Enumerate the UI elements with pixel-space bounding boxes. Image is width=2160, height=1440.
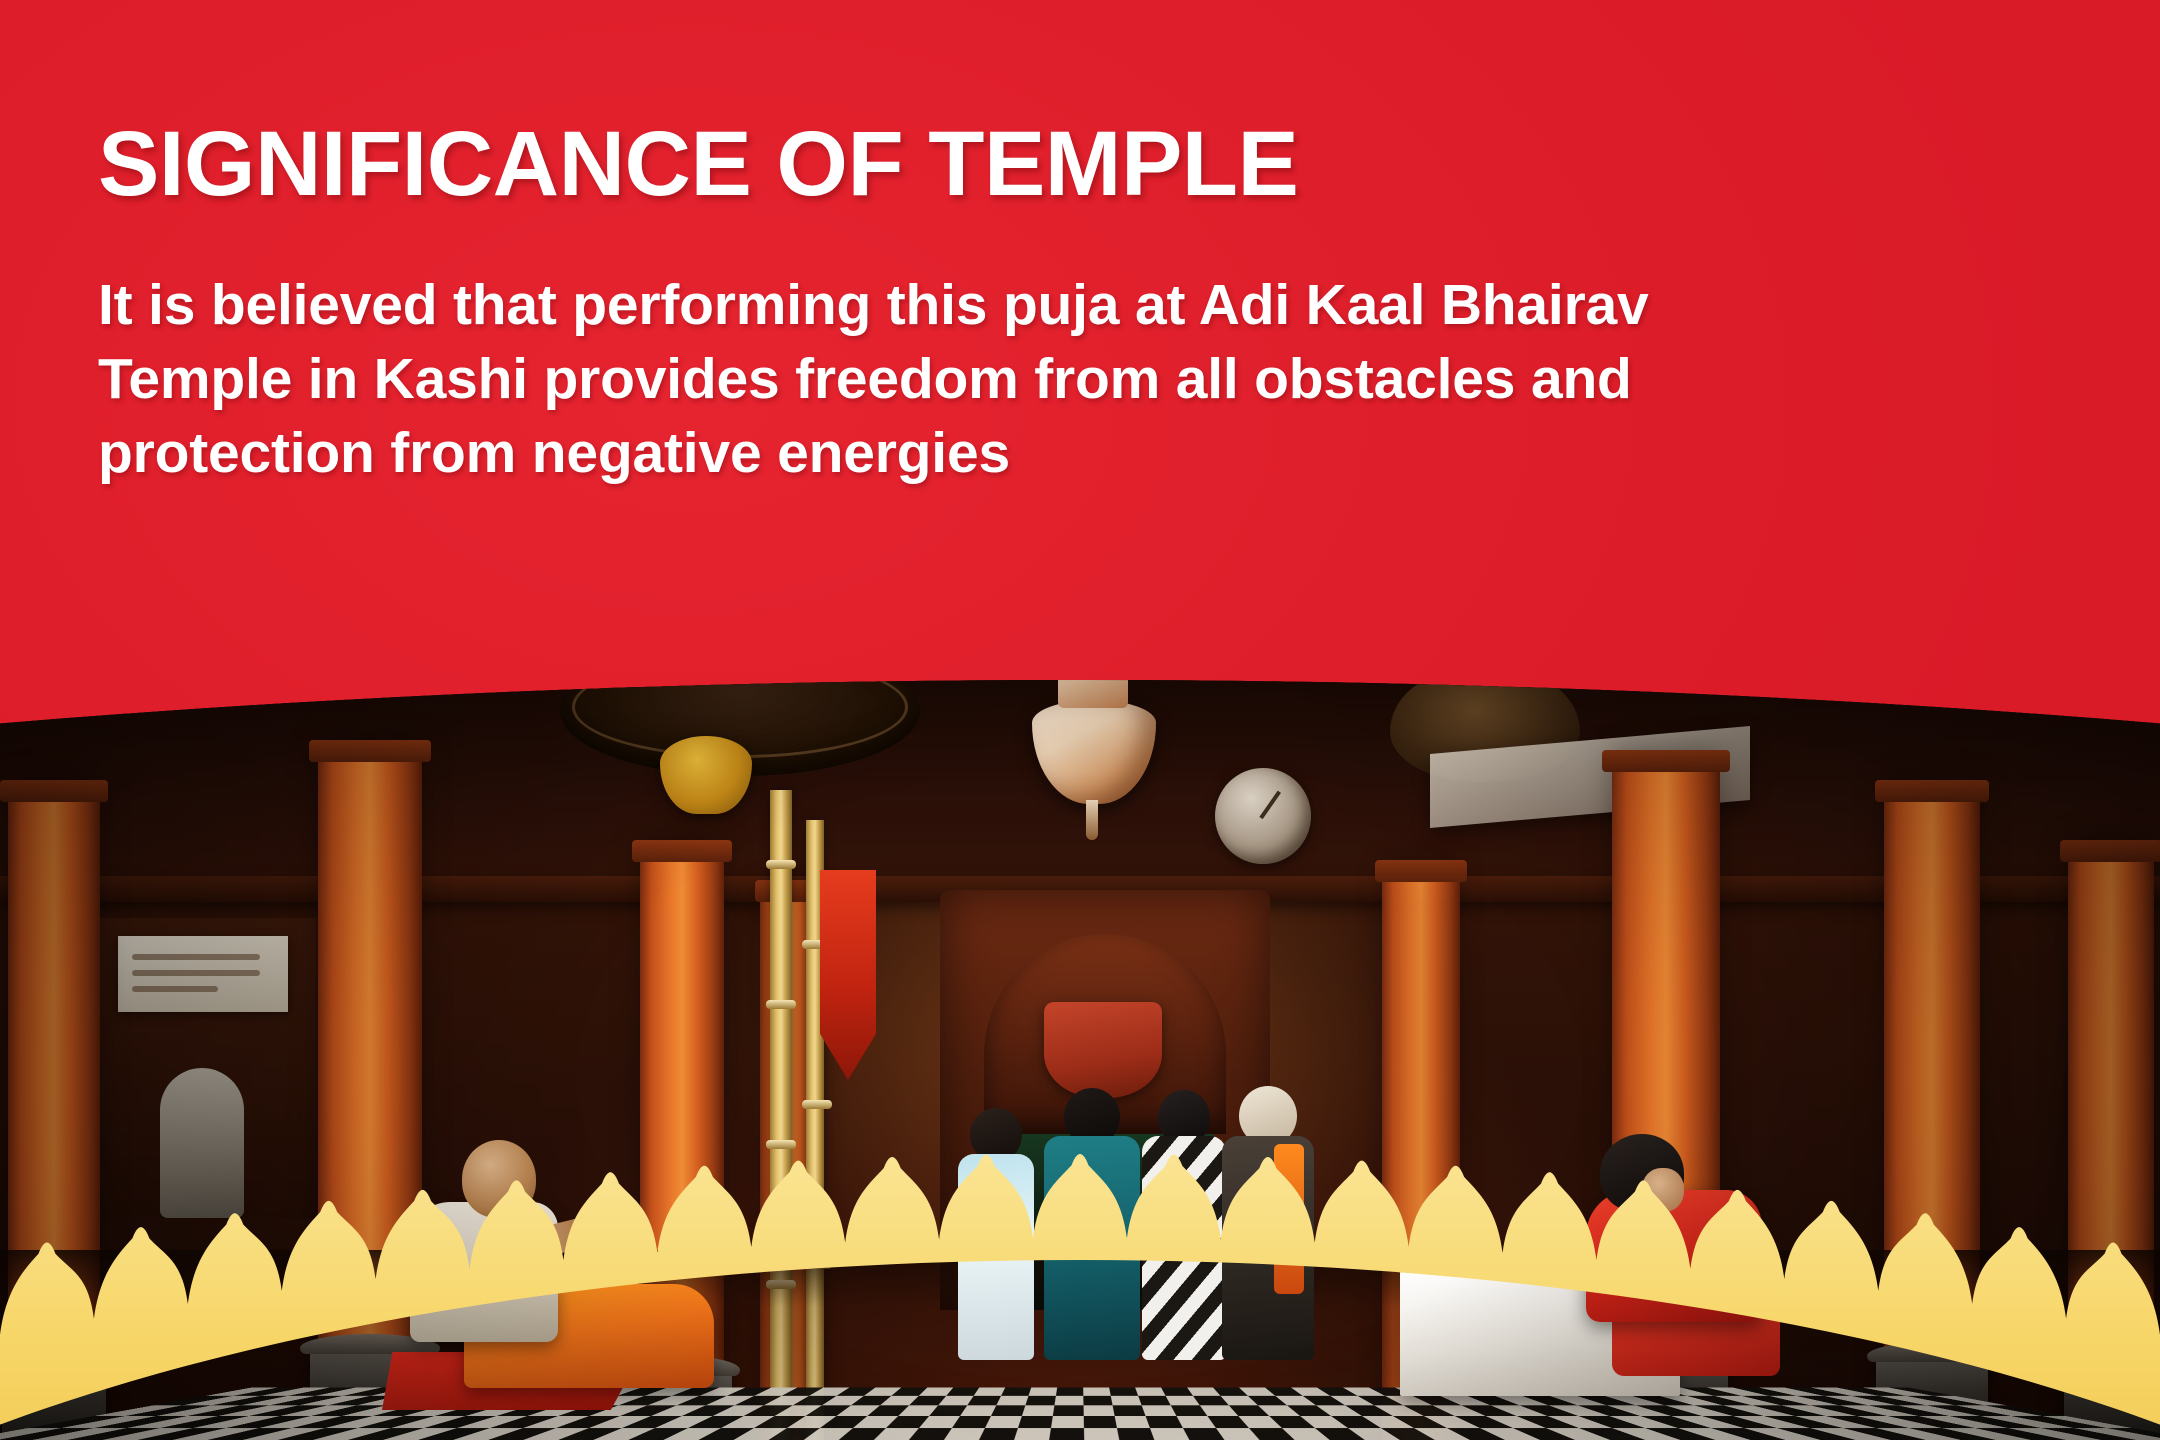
priest-head bbox=[462, 1140, 536, 1218]
devotee-shawl bbox=[1274, 1144, 1304, 1294]
sanctum-shield-ornament bbox=[1044, 1002, 1162, 1098]
body-line-2: Temple in Kashi provides freedom from al… bbox=[98, 342, 1908, 416]
devotee bbox=[958, 1108, 1034, 1358]
devotee bbox=[1044, 1088, 1140, 1358]
arch-clip-mask bbox=[0, 680, 2160, 1440]
text-block: SIGNIFICANCE OF TEMPLE It is believed th… bbox=[98, 118, 1918, 490]
body-line-1: It is believed that performing this puja… bbox=[98, 268, 1908, 342]
person-in-red-face bbox=[1642, 1168, 1684, 1212]
devotee bbox=[1142, 1090, 1226, 1358]
brass-lamp-icon bbox=[660, 736, 752, 814]
poster-canvas: SIGNIFICANCE OF TEMPLE It is believed th… bbox=[0, 0, 2160, 1440]
person-in-red bbox=[1570, 1132, 1800, 1382]
wall-plaque bbox=[118, 936, 288, 1012]
body-copy: It is believed that performing this puja… bbox=[98, 268, 1908, 490]
priest-torso bbox=[410, 1202, 558, 1342]
devotee bbox=[1222, 1086, 1314, 1358]
person-in-red-torso bbox=[1586, 1190, 1762, 1322]
stone-idol bbox=[160, 1068, 244, 1218]
left-shrine-niche bbox=[96, 918, 316, 1218]
priest-figure bbox=[404, 1140, 604, 1380]
devotee-body bbox=[1044, 1136, 1140, 1360]
temple-photo-panel bbox=[0, 680, 2160, 1440]
body-line-3: protection from negative energies bbox=[98, 416, 1908, 490]
wall-clock-icon bbox=[1215, 768, 1311, 864]
devotee-body bbox=[958, 1154, 1034, 1360]
temple-interior-photo bbox=[0, 680, 2160, 1440]
page-title: SIGNIFICANCE OF TEMPLE bbox=[98, 118, 1918, 210]
devotee-body bbox=[1142, 1136, 1226, 1360]
